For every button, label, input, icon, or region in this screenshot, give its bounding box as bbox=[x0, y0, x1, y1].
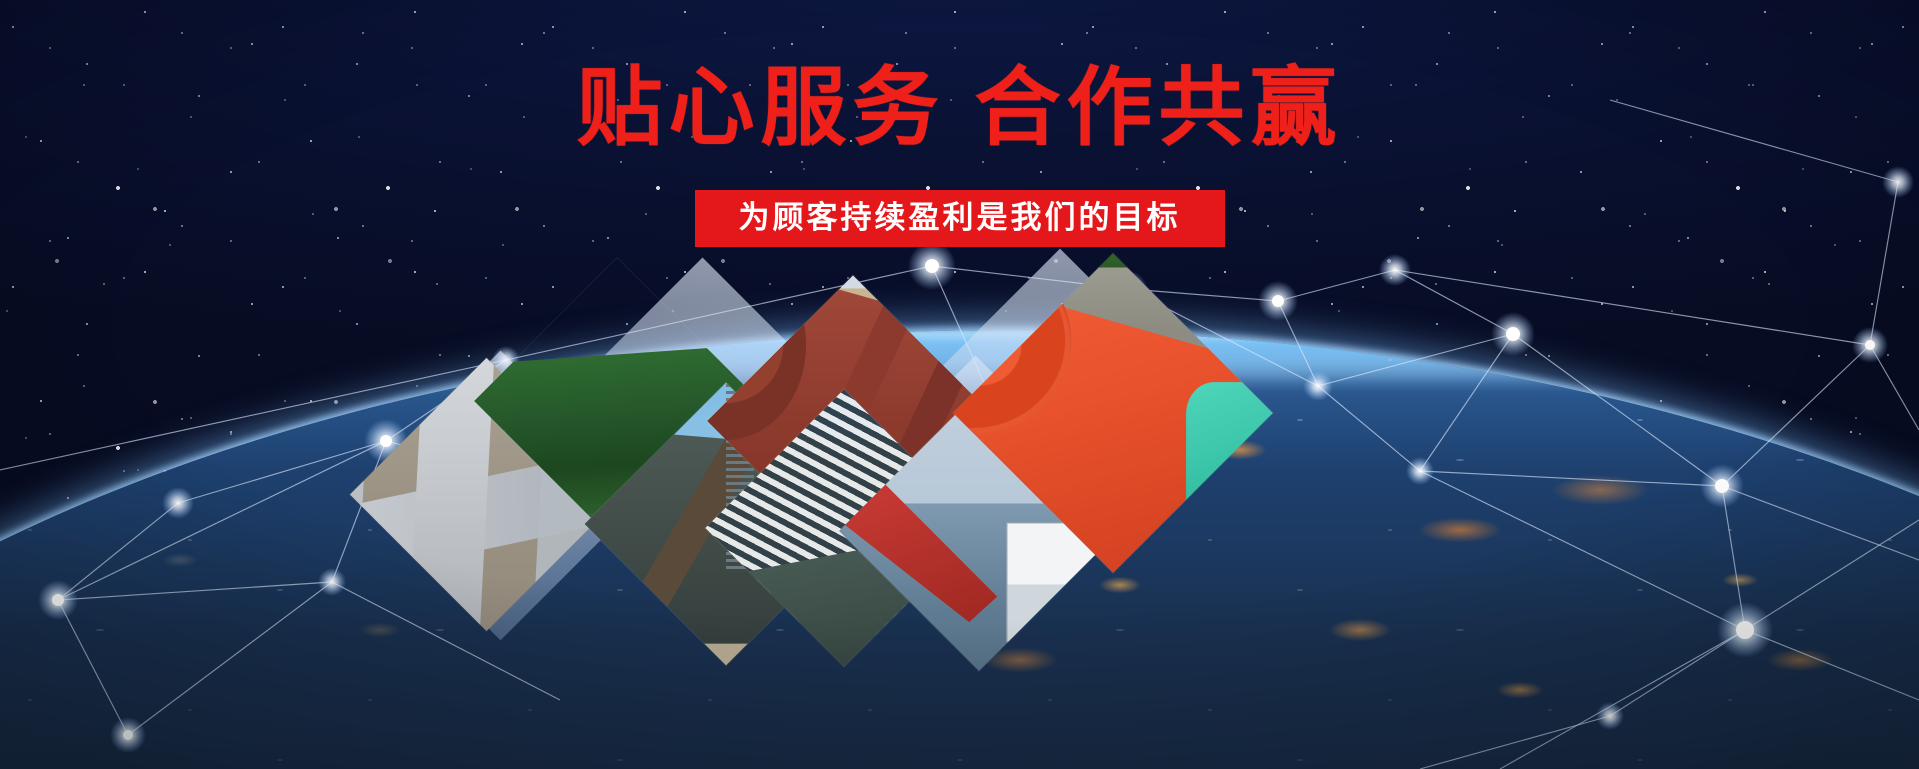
banner-subtitle-wrap: 为顾客持续盈利是我们的目标 bbox=[0, 190, 1919, 247]
hero-banner: 贴心服务 合作共赢 为顾客持续盈利是我们的目标 bbox=[0, 0, 1919, 769]
banner-subtitle: 为顾客持续盈利是我们的目标 bbox=[695, 190, 1225, 247]
banner-headline: 贴心服务 合作共赢 bbox=[0, 62, 1919, 155]
